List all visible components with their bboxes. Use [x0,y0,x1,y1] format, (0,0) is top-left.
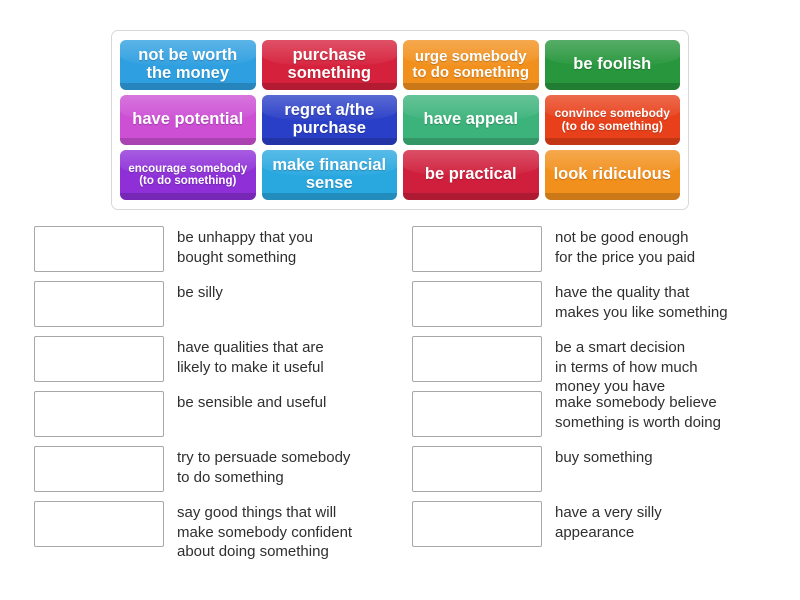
answer-row: be sensible and useful [34,391,404,446]
answer-definition: be unhappy that you bought something [177,226,404,267]
tile-row: have potential regret a/the purchase hav… [120,95,680,145]
word-tile[interactable]: not be worth the money [120,40,256,90]
drop-slot[interactable] [34,281,164,327]
answer-row: say good things that will make somebody … [34,501,404,561]
answer-definition: have a very silly appearance [555,501,782,542]
drop-slot[interactable] [412,501,542,547]
answer-definition: be silly [177,281,404,303]
word-tile[interactable]: convince somebody (to do something) [545,95,681,145]
word-tile-label: have potential [125,111,251,129]
word-tile[interactable]: have appeal [403,95,539,145]
answer-row: be a smart decision in terms of how much… [412,336,782,391]
answer-definition: be a smart decision in terms of how much… [555,336,782,397]
answer-definition: have the quality that makes you like som… [555,281,782,322]
answer-row: make somebody believe something is worth… [412,391,782,446]
drop-slot[interactable] [412,281,542,327]
tile-row: not be worth the money purchase somethin… [120,40,680,90]
word-tile-label: have appeal [408,111,534,129]
word-tile-label: urge somebody to do something [408,49,534,81]
word-tile[interactable]: look ridiculous [545,150,681,200]
drop-slot[interactable] [412,336,542,382]
word-tile-label: be foolish [550,56,676,74]
drop-slot[interactable] [412,226,542,272]
drop-slot[interactable] [34,391,164,437]
word-tile-label: make financial sense [267,157,393,193]
answer-definition: make somebody believe something is worth… [555,391,782,432]
word-tile[interactable]: have potential [120,95,256,145]
word-tile-label: convince somebody (to do something) [550,107,676,133]
answer-row: not be good enough for the price you pai… [412,226,782,281]
drop-slot[interactable] [34,446,164,492]
drop-slot[interactable] [34,501,164,547]
word-tile[interactable]: purchase something [262,40,398,90]
answer-row: have the quality that makes you like som… [412,281,782,336]
answer-definition: try to persuade somebody to do something [177,446,404,487]
word-tile[interactable]: urge somebody to do something [403,40,539,90]
tile-row: encourage somebody (to do something) mak… [120,150,680,200]
word-tile-label: regret a/the purchase [267,102,393,138]
word-tile[interactable]: encourage somebody (to do something) [120,150,256,200]
drop-slot[interactable] [412,446,542,492]
answer-column-right: not be good enough for the price you pai… [412,226,782,561]
drop-slot[interactable] [34,226,164,272]
answer-definition: be sensible and useful [177,391,404,413]
answer-definition: not be good enough for the price you pai… [555,226,782,267]
drop-slot[interactable] [412,391,542,437]
word-tile-label: encourage somebody (to do something) [125,163,251,188]
word-tile-label: be practical [408,166,534,184]
word-tile[interactable]: make financial sense [262,150,398,200]
answer-row: be silly [34,281,404,336]
word-tile-bank: not be worth the money purchase somethin… [111,30,689,210]
word-tile[interactable]: be foolish [545,40,681,90]
answer-row: be unhappy that you bought something [34,226,404,281]
answer-definition: have qualities that are likely to make i… [177,336,404,377]
answer-definition: say good things that will make somebody … [177,501,404,562]
word-tile[interactable]: regret a/the purchase [262,95,398,145]
answer-row: try to persuade somebody to do something [34,446,404,501]
answer-column-left: be unhappy that you bought something be … [34,226,404,561]
word-tile-label: not be worth the money [125,47,251,83]
word-tile-label: look ridiculous [550,166,676,184]
word-tile-label: purchase something [267,47,393,83]
answer-definition: buy something [555,446,782,468]
answer-row: buy something [412,446,782,501]
word-tile[interactable]: be practical [403,150,539,200]
drop-slot[interactable] [34,336,164,382]
answer-row: have qualities that are likely to make i… [34,336,404,391]
answer-row: have a very silly appearance [412,501,782,561]
